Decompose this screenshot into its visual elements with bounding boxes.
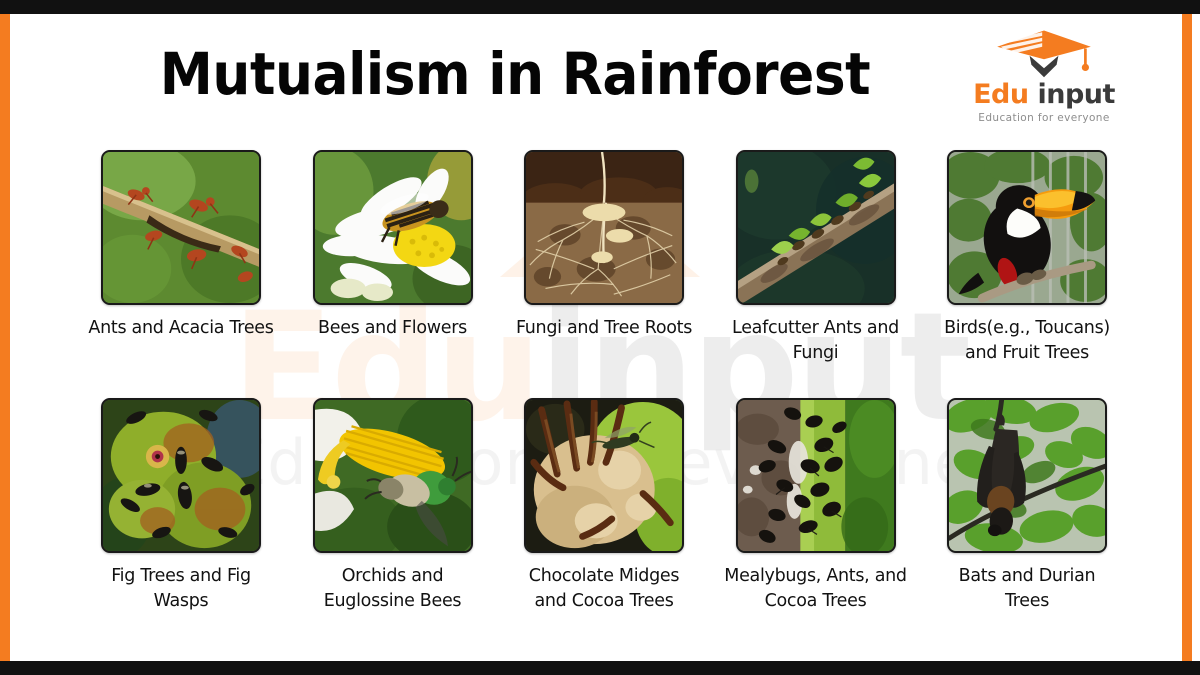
infographic-page: Eduinput Education for everyone Mutualis… (0, 0, 1200, 675)
header: Mutualism in Rainforest Edu input Educat… (10, 14, 1192, 144)
toco-toucan-on-branch-photo (947, 150, 1107, 305)
examples-row-1: Ants and Acacia Trees (88, 150, 1120, 388)
left-accent-bar (0, 14, 10, 661)
black-ants-and-mealybugs-on-stem-photo (736, 398, 896, 553)
example-cell[interactable]: Birds(e.g., Toucans) and Fruit Trees (934, 150, 1120, 366)
ants-on-acacia-twig-photo (101, 150, 261, 305)
example-label: Bees and Flowers (300, 316, 486, 341)
mycorrhizal-fungi-root-network-photo (524, 150, 684, 305)
fig-wasps-on-green-figs-photo (101, 398, 261, 553)
fruit-bat-hanging-in-tree-photo (947, 398, 1107, 553)
example-cell[interactable]: Fig Trees and Fig Wasps (88, 398, 274, 614)
example-label: Fig Trees and Fig Wasps (88, 564, 274, 614)
logo-wordmark: Edu input (964, 81, 1124, 109)
example-label: Orchids and Euglossine Bees (300, 564, 486, 614)
logo-word-edu: Edu (973, 79, 1029, 110)
mutualism-examples-grid: Ants and Acacia Trees (10, 150, 1192, 650)
examples-row-2: Fig Trees and Fig Wasps (88, 398, 1120, 636)
graduation-cap-icon (964, 28, 1124, 80)
logo-word-input: input (1037, 79, 1114, 110)
example-cell[interactable]: Bees and Flowers (300, 150, 486, 341)
example-cell[interactable]: Ants and Acacia Trees (88, 150, 274, 341)
example-cell[interactable]: Fungi and Tree Roots (511, 150, 697, 341)
example-label: Bats and Durian Trees (934, 564, 1120, 614)
example-label: Ants and Acacia Trees (88, 316, 274, 341)
example-label: Birds(e.g., Toucans) and Fruit Trees (934, 316, 1120, 366)
page-title: Mutualism in Rainforest (50, 40, 979, 108)
honeybee-on-white-daisy-photo (313, 150, 473, 305)
example-cell[interactable]: Orchids and Euglossine Bees (300, 398, 486, 614)
logo-tagline: Education for everyone (964, 112, 1124, 124)
example-label: Leafcutter Ants and Fungi (723, 316, 909, 366)
bottom-border-bar (0, 661, 1200, 675)
leafcutter-ants-carrying-leaves-photo (736, 150, 896, 305)
brand-logo[interactable]: Edu input Education for everyone (964, 28, 1124, 124)
example-cell[interactable]: Bats and Durian Trees (934, 398, 1120, 614)
example-label: Mealybugs, Ants, and Cocoa Trees (723, 564, 909, 614)
top-border-bar (0, 0, 1200, 14)
midge-on-cocoa-flower-photo (524, 398, 684, 553)
example-cell[interactable]: Chocolate Midges and Cocoa Trees (511, 398, 697, 614)
example-cell[interactable]: Leafcutter Ants and Fungi (723, 150, 909, 366)
example-label: Fungi and Tree Roots (511, 316, 697, 341)
example-cell[interactable]: Mealybugs, Ants, and Cocoa Trees (723, 398, 909, 614)
green-euglossine-bee-on-orchid-photo (313, 398, 473, 553)
example-label: Chocolate Midges and Cocoa Trees (511, 564, 697, 614)
